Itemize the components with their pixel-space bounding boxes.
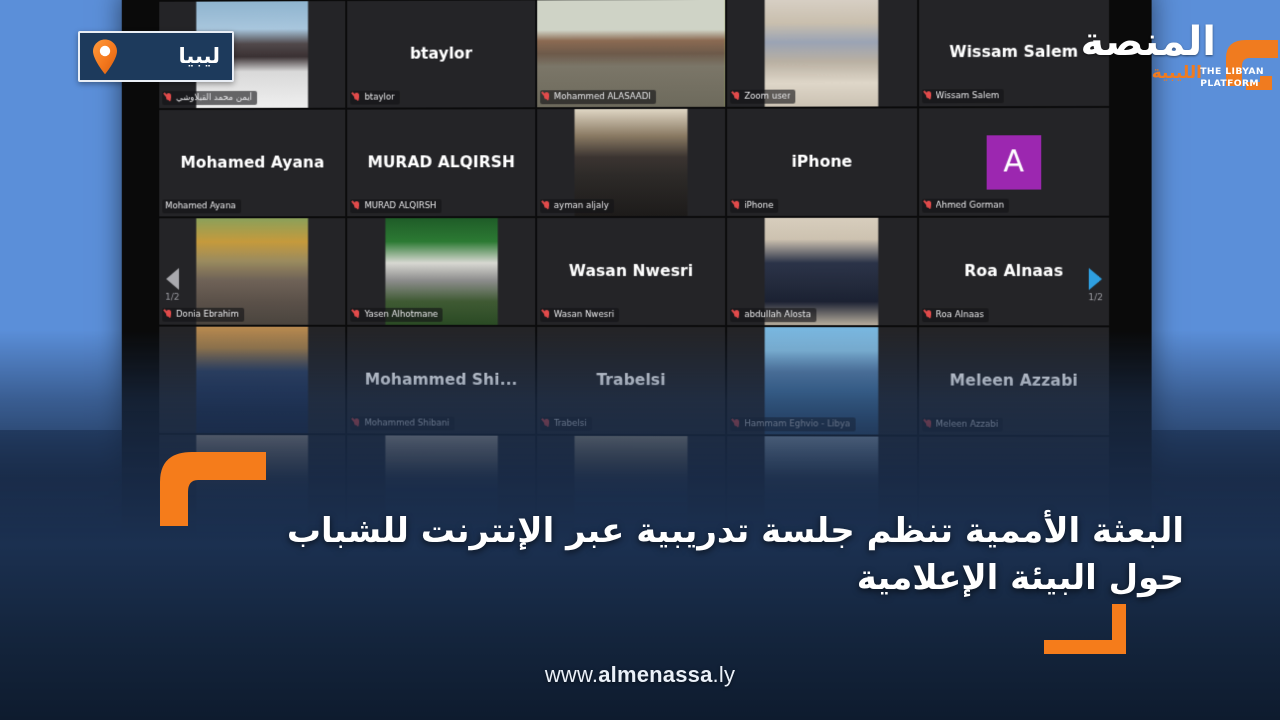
participant-name-label: ayman aljaly [540,199,614,213]
microphone-muted-icon [733,310,740,321]
participant-name-label: btaylor [351,91,400,105]
logo-arabic-name: المنصة [1080,22,1216,62]
participant-display-name: Wasan Nwesri [565,263,697,281]
logo-english-line1: THE LIBYAN [1200,66,1264,78]
participant-name-text: Ahmed Gorman [936,200,1004,212]
microphone-muted-icon [354,201,361,212]
participant-name-label: Mohamed Ayana [162,199,241,213]
microphone-muted-icon [733,200,740,211]
headline: البعثة الأممية تنظم جلسة تدريبية عبر الإ… [184,508,1184,602]
participant-tile[interactable]: Zoom user [727,0,916,107]
participant-tile[interactable]: Donia Ebrahim [159,218,345,325]
gallery-prev-page[interactable]: 1/2 [165,268,179,303]
gallery-next-page[interactable]: 1/2 [1088,268,1103,303]
headline-line-2: حول البيئة الإعلامية [184,555,1184,602]
participant-display-name: Roa Alnaas [960,263,1067,281]
participant-tile[interactable]: abdullah Alosta [727,218,916,325]
chevron-left-icon [166,268,179,290]
headline-line-1: البعثة الأممية تنظم جلسة تدريبية عبر الإ… [287,511,1184,551]
logo-english-line2: PLATFORM [1200,78,1264,90]
participant-display-name: btaylor [406,45,477,63]
microphone-muted-icon [354,92,361,103]
news-card: أيمن محمد القبلاوشيbtaylorbtaylorMohamme… [0,0,1280,720]
participant-display-name: MURAD ALQIRSH [363,154,519,172]
participant-name-text: abdullah Alosta [744,309,811,321]
participant-name-label: Yasen Alhotmane [351,308,443,322]
participant-tile[interactable]: Mohammed ALASAADI [537,0,725,107]
participant-name-text: MURAD ALQIRSH [364,200,436,212]
location-badge: ليبيا [78,31,234,82]
participant-name-text: Roa Alnaas [936,309,984,321]
participant-name-text: Wasan Nwesri [554,309,614,321]
participant-name-text: Mohammed ALASAADI [554,91,651,103]
participant-name-label: أيمن محمد القبلاوشي [162,91,257,105]
participant-tile[interactable]: ayman aljaly [537,109,725,216]
participant-name-text: Donia Ebrahim [176,309,239,321]
participant-name-label: Donia Ebrahim [162,308,244,322]
participant-name-label: Wasan Nwesri [540,308,619,322]
participant-name-label: Zoom user [730,90,795,104]
microphone-muted-icon [165,93,172,104]
participant-name-label: iPhone [730,199,778,213]
participant-tile[interactable]: Mohamed AyanaMohamed Ayana [159,110,345,217]
participant-name-label: Roa Alnaas [922,308,989,322]
microphone-muted-icon [733,91,740,102]
map-pin-icon [88,37,122,77]
microphone-muted-icon [543,92,550,103]
microphone-muted-icon [925,310,932,321]
site-url: www.almenassa.ly [0,662,1280,688]
participant-display-name: iPhone [787,153,856,171]
site-url-prefix: www. [545,662,598,687]
participant-name-text: Yasen Alhotmane [364,309,438,321]
participant-tile[interactable]: MURAD ALQIRSHMURAD ALQIRSH [348,109,535,216]
participant-name-text: أيمن محمد القبلاوشي [176,92,252,104]
microphone-muted-icon [165,309,172,320]
participant-tile[interactable]: iPhoneiPhone [727,108,916,216]
participant-name-label: Mohammed ALASAADI [540,90,656,104]
participant-tile[interactable]: btaylorbtaylor [348,0,535,107]
microphone-muted-icon [925,91,932,102]
participant-avatar: A [986,135,1041,189]
site-url-brand: almenassa [598,662,712,687]
participant-name-label: abdullah Alosta [730,308,816,322]
brand-logo: المنصة الليبية THE LIBYAN PLATFORM [1082,20,1272,106]
decoration-bracket-bottom-right [1040,604,1128,656]
participant-name-text: iPhone [744,200,773,212]
microphone-muted-icon [543,201,550,212]
participant-name-label: Wissam Salem [922,89,1005,103]
participant-tile[interactable]: Wasan NwesriWasan Nwesri [537,218,725,325]
participant-name-text: Wissam Salem [936,90,999,102]
participant-tile[interactable]: AAhmed Gorman [919,108,1109,216]
participant-name-text: btaylor [364,92,394,104]
participant-display-name: Mohamed Ayana [176,154,328,172]
logo-english-name: THE LIBYAN PLATFORM [1200,66,1264,89]
participant-tile[interactable]: Yasen Alhotmane [348,218,535,325]
chevron-right-icon [1089,268,1102,290]
participant-display-name: Wissam Salem [945,43,1082,61]
page-indicator-left: 1/2 [165,293,179,303]
logo-arabic-subtitle: الليبية [1152,65,1202,82]
participant-name-text: ayman aljaly [554,200,609,212]
participant-tile[interactable]: Roa AlnaasRoa Alnaas [919,218,1109,326]
page-indicator-right: 1/2 [1088,293,1103,303]
participant-name-label: MURAD ALQIRSH [351,199,442,213]
participant-name-label: Ahmed Gorman [922,199,1009,213]
participant-name-text: Zoom user [744,91,790,103]
microphone-muted-icon [354,309,361,320]
location-badge-label: ليبيا [122,46,232,67]
microphone-muted-icon [543,309,550,320]
microphone-muted-icon [925,200,932,211]
participant-name-text: Mohamed Ayana [165,200,236,212]
site-url-suffix: .ly [713,662,736,687]
